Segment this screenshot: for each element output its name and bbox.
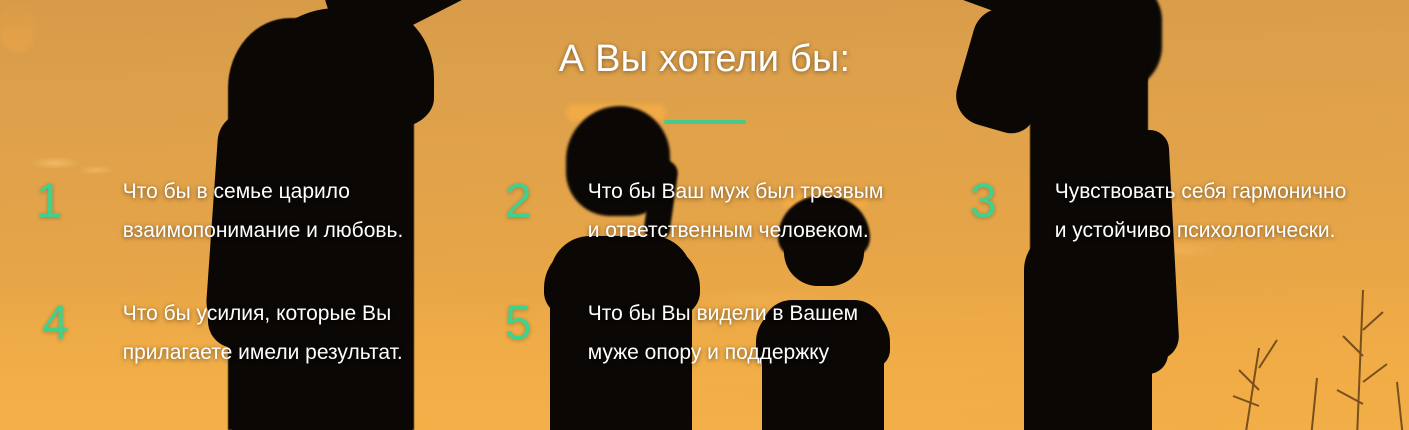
item-number-2: 2 (505, 178, 532, 226)
item-5-line-2: муже опору и поддержку (588, 341, 829, 364)
item-text-5: Что бы Вы видели в Вашем муже опору и по… (588, 294, 858, 372)
item-1-line-2: взаимопонимание и любовь. (123, 219, 404, 242)
list-item-1: 1 Что бы в семье царило взаимопонимание … (36, 178, 403, 250)
list-item-4: 4 Что бы усилия, которые Вы прилагаете и… (42, 300, 403, 372)
item-5-line-1: Что бы Вы видели в Вашем (588, 302, 858, 325)
item-number-3: 3 (970, 178, 997, 226)
item-4-line-2: прилагаете имели результат. (123, 341, 403, 364)
item-1-line-1: Что бы в семье царило (123, 180, 350, 203)
item-text-2: Что бы Ваш муж был трезвым и ответственн… (588, 172, 884, 250)
item-4-line-1: Что бы усилия, которые Вы (123, 302, 391, 325)
list-item-2: 2 Что бы Ваш муж был трезвым и ответстве… (505, 178, 883, 250)
item-number-5: 5 (505, 300, 532, 348)
list-item-3: 3 Чувствовать себя гармонично и устойчив… (970, 178, 1346, 250)
title-divider-icon (664, 120, 746, 124)
item-3-line-2: и устойчиво психологически. (1055, 219, 1336, 242)
hero-banner: А Вы хотели бы: 1 Что бы в семье царило … (0, 0, 1409, 430)
list-item-5: 5 Что бы Вы видели в Вашем муже опору и … (505, 300, 858, 372)
item-number-4: 4 (42, 300, 69, 348)
item-text-1: Что бы в семье царило взаимопонимание и … (123, 172, 404, 250)
item-2-line-1: Что бы Ваш муж был трезвым (588, 180, 884, 203)
item-3-line-1: Чувствовать себя гармонично (1055, 180, 1347, 203)
item-2-line-2: и ответственным человеком. (588, 219, 869, 242)
item-text-3: Чувствовать себя гармонично и устойчиво … (1055, 172, 1347, 250)
item-number-1: 1 (36, 178, 63, 226)
item-text-4: Что бы усилия, которые Вы прилагаете име… (123, 294, 403, 372)
page-title: А Вы хотели бы: (0, 38, 1409, 81)
